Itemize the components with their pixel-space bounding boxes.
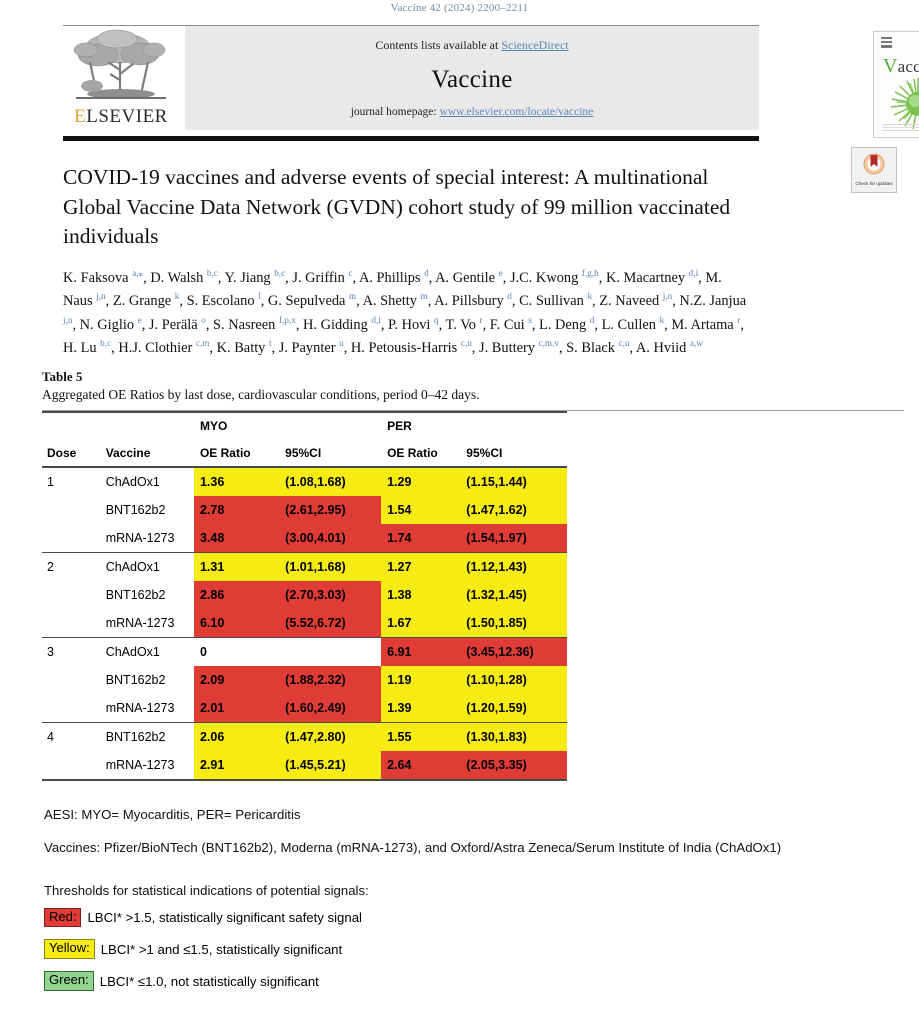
cell-myo-95ci: (1.45,5.21) <box>279 751 381 780</box>
cell-per-oe-ratio: 1.27 <box>381 552 460 581</box>
cell-myo-oe-ratio: 2.86 <box>194 581 279 609</box>
note-vaccines: Vaccines: Pfizer/BioNTech (BNT162b2), Mo… <box>44 840 919 856</box>
group-header-per-spacer <box>460 412 567 440</box>
table-5-block: Table 5 Aggregated OE Ratios by last dos… <box>42 369 919 781</box>
cell-vaccine: BNT162b2 <box>101 722 194 751</box>
column-header-per-oe-ratio: OE Ratio <box>381 440 460 467</box>
cell-per-oe-ratio: 2.64 <box>381 751 460 780</box>
oe-ratios-table: MYO PER Dose Vaccine OE Ratio 95%CI OE R… <box>42 411 567 781</box>
cell-per-95ci: (1.12,1.43) <box>460 552 567 581</box>
column-header-dose: Dose <box>42 440 101 467</box>
cell-myo-95ci: (2.61,2.95) <box>279 496 381 524</box>
column-header-myo-95ci: 95%CI <box>279 440 381 467</box>
cover-footer-lines <box>882 124 919 131</box>
table-caption: Aggregated OE Ratios by last dose, cardi… <box>42 387 919 403</box>
threshold-description: LBCI* >1 and ≤1.5, statistically signifi… <box>101 942 342 957</box>
threshold-swatch: Yellow: <box>44 939 95 959</box>
cell-myo-oe-ratio: 6.10 <box>194 609 279 638</box>
cell-myo-oe-ratio: 2.01 <box>194 694 279 723</box>
table-column-header-row: Dose Vaccine OE Ratio 95%CI OE Ratio 95%… <box>42 440 567 467</box>
cell-vaccine: BNT162b2 <box>101 496 194 524</box>
threshold-legend-row: Red:LBCI* >1.5, statistically significan… <box>44 908 919 928</box>
cell-vaccine: BNT162b2 <box>101 666 194 694</box>
cell-per-oe-ratio: 1.74 <box>381 524 460 553</box>
cell-per-95ci: (1.54,1.97) <box>460 524 567 553</box>
cell-per-oe-ratio: 1.39 <box>381 694 460 723</box>
cell-myo-95ci: (1.88,2.32) <box>279 666 381 694</box>
cell-myo-oe-ratio: 2.78 <box>194 496 279 524</box>
elsevier-tree-mini-icon <box>881 37 892 48</box>
threshold-swatch: Green: <box>44 971 94 991</box>
threshold-description: LBCI* ≤1.0, not statistically significan… <box>100 974 319 989</box>
homepage-prefix: journal homepage: <box>351 106 440 118</box>
cell-per-oe-ratio: 1.54 <box>381 496 460 524</box>
cell-dose: 4 <box>42 722 101 751</box>
group-header-per: PER <box>381 412 460 440</box>
cell-myo-95ci: (2.70,3.03) <box>279 581 381 609</box>
threshold-legend-row: Green:LBCI* ≤1.0, not statistically sign… <box>44 971 919 991</box>
cell-dose <box>42 496 101 524</box>
cell-per-95ci: (1.30,1.83) <box>460 722 567 751</box>
cell-myo-95ci: (5.52,6.72) <box>279 609 381 638</box>
journal-header-box: Contents lists available at ScienceDirec… <box>185 26 759 130</box>
table-row: mRNA-12732.91(1.45,5.21)2.64(2.05,3.35) <box>42 751 567 780</box>
cell-myo-95ci: (1.08,1.68) <box>279 467 381 496</box>
cell-dose <box>42 751 101 780</box>
table-row: BNT162b22.78(2.61,2.95)1.54(1.47,1.62) <box>42 496 567 524</box>
elsevier-tree-icon <box>70 28 172 106</box>
threshold-legend-row: Yellow:LBCI* >1 and ≤1.5, statistically … <box>44 939 919 959</box>
cell-vaccine: ChAdOx1 <box>101 467 194 496</box>
table-body: 1ChAdOx11.36(1.08,1.68)1.29(1.15,1.44)BN… <box>42 467 567 780</box>
cell-dose: 3 <box>42 637 101 666</box>
threshold-legend: Red:LBCI* >1.5, statistically significan… <box>0 908 919 992</box>
cell-vaccine: ChAdOx1 <box>101 552 194 581</box>
group-header-myo: MYO <box>194 412 279 440</box>
column-header-per-95ci: 95%CI <box>460 440 567 467</box>
cell-vaccine: mRNA-1273 <box>101 694 194 723</box>
crossmark-check-for-updates-badge[interactable]: Check for updates <box>851 147 897 193</box>
journal-homepage-link[interactable]: www.elsevier.com/locate/vaccine <box>439 106 593 118</box>
cell-dose <box>42 581 101 609</box>
table-row: 2ChAdOx11.31(1.01,1.68)1.27(1.12,1.43) <box>42 552 567 581</box>
table-row: mRNA-12733.48(3.00,4.01)1.74(1.54,1.97) <box>42 524 567 553</box>
author-list: K. Faksova a,⁎, D. Walsh b,c, Y. Jiang b… <box>63 266 753 359</box>
cell-dose <box>42 609 101 638</box>
table-label: Table 5 <box>42 369 919 385</box>
cell-vaccine: mRNA-1273 <box>101 524 194 553</box>
crossmark-icon <box>863 153 885 180</box>
cell-per-95ci: (1.10,1.28) <box>460 666 567 694</box>
cell-myo-oe-ratio: 2.91 <box>194 751 279 780</box>
cell-per-oe-ratio: 1.55 <box>381 722 460 751</box>
article-title: COVID-19 vaccines and adverse events of … <box>63 163 743 252</box>
cell-per-95ci: (1.32,1.45) <box>460 581 567 609</box>
cell-per-95ci: (3.45,12.36) <box>460 637 567 666</box>
table-row: BNT162b22.09(1.88,2.32)1.19(1.10,1.28) <box>42 666 567 694</box>
cell-vaccine: mRNA-1273 <box>101 609 194 638</box>
cell-dose: 1 <box>42 467 101 496</box>
cell-dose <box>42 524 101 553</box>
table-row: 1ChAdOx11.36(1.08,1.68)1.29(1.15,1.44) <box>42 467 567 496</box>
table-row: BNT162b22.86(2.70,3.03)1.38(1.32,1.45) <box>42 581 567 609</box>
cell-myo-95ci <box>279 637 381 666</box>
cell-per-oe-ratio: 1.67 <box>381 609 460 638</box>
cell-vaccine: ChAdOx1 <box>101 637 194 666</box>
masthead-bottom-rule <box>63 136 759 141</box>
cell-per-95ci: (1.20,1.59) <box>460 694 567 723</box>
cell-myo-oe-ratio: 1.36 <box>194 467 279 496</box>
cell-dose: 2 <box>42 552 101 581</box>
cell-myo-95ci: (1.01,1.68) <box>279 552 381 581</box>
cell-myo-oe-ratio: 3.48 <box>194 524 279 553</box>
table-row: mRNA-12736.10(5.52,6.72)1.67(1.50,1.85) <box>42 609 567 638</box>
cell-vaccine: BNT162b2 <box>101 581 194 609</box>
cell-per-95ci: (1.47,1.62) <box>460 496 567 524</box>
group-header-myo-spacer <box>279 412 381 440</box>
column-header-myo-oe-ratio: OE Ratio <box>194 440 279 467</box>
cell-myo-95ci: (1.47,2.80) <box>279 722 381 751</box>
elsevier-logo: ELSEVIER <box>63 26 179 130</box>
column-header-vaccine: Vaccine <box>101 440 194 467</box>
cell-myo-95ci: (1.60,2.49) <box>279 694 381 723</box>
cell-dose <box>42 694 101 723</box>
threshold-swatch: Red: <box>44 908 81 928</box>
journal-homepage-line: journal homepage: www.elsevier.com/locat… <box>351 106 594 118</box>
group-header-blank-2 <box>101 412 194 440</box>
threshold-description: LBCI* >1.5, statistically significant sa… <box>87 910 362 925</box>
cell-per-95ci: (1.15,1.44) <box>460 467 567 496</box>
cell-per-95ci: (1.50,1.85) <box>460 609 567 638</box>
table-group-header-row: MYO PER <box>42 412 567 440</box>
cell-dose <box>42 666 101 694</box>
cell-per-oe-ratio: 1.29 <box>381 467 460 496</box>
journal-masthead: ELSEVIER Contents lists available at Sci… <box>63 25 864 141</box>
table-row: 3ChAdOx106.91(3.45,12.36) <box>42 637 567 666</box>
cell-vaccine: mRNA-1273 <box>101 751 194 780</box>
crossmark-label: Check for updates <box>855 181 892 187</box>
sciencedirect-link[interactable]: ScienceDirect <box>501 38 568 52</box>
cell-myo-oe-ratio: 0 <box>194 637 279 666</box>
note-aesi: AESI: MYO= Myocarditis, PER= Pericarditi… <box>44 807 919 823</box>
cell-per-oe-ratio: 1.19 <box>381 666 460 694</box>
cell-myo-oe-ratio: 2.09 <box>194 666 279 694</box>
group-header-blank-1 <box>42 412 101 440</box>
cell-per-oe-ratio: 6.91 <box>381 637 460 666</box>
journal-cover-thumbnail: ISSN 0264-410X Vaccine <box>873 31 919 138</box>
cell-per-oe-ratio: 1.38 <box>381 581 460 609</box>
cell-myo-95ci: (3.00,4.01) <box>279 524 381 553</box>
elsevier-wordmark: ELSEVIER <box>74 107 168 126</box>
cell-per-95ci: (2.05,3.35) <box>460 751 567 780</box>
cell-myo-oe-ratio: 1.31 <box>194 552 279 581</box>
table-notes: AESI: MYO= Myocarditis, PER= Pericarditi… <box>44 807 919 856</box>
table-row: mRNA-12732.01(1.60,2.49)1.39(1.20,1.59) <box>42 694 567 723</box>
contents-prefix: Contents lists available at <box>375 38 501 52</box>
running-head: Vaccine 42 (2024) 2200–2211 <box>0 0 919 14</box>
contents-list-line: Contents lists available at ScienceDirec… <box>375 38 568 53</box>
thresholds-title: Thresholds for statistical indications o… <box>44 883 919 898</box>
cell-myo-oe-ratio: 2.06 <box>194 722 279 751</box>
table-row: 4BNT162b22.06(1.47,2.80)1.55(1.30,1.83) <box>42 722 567 751</box>
journal-title: Vaccine <box>431 66 512 94</box>
